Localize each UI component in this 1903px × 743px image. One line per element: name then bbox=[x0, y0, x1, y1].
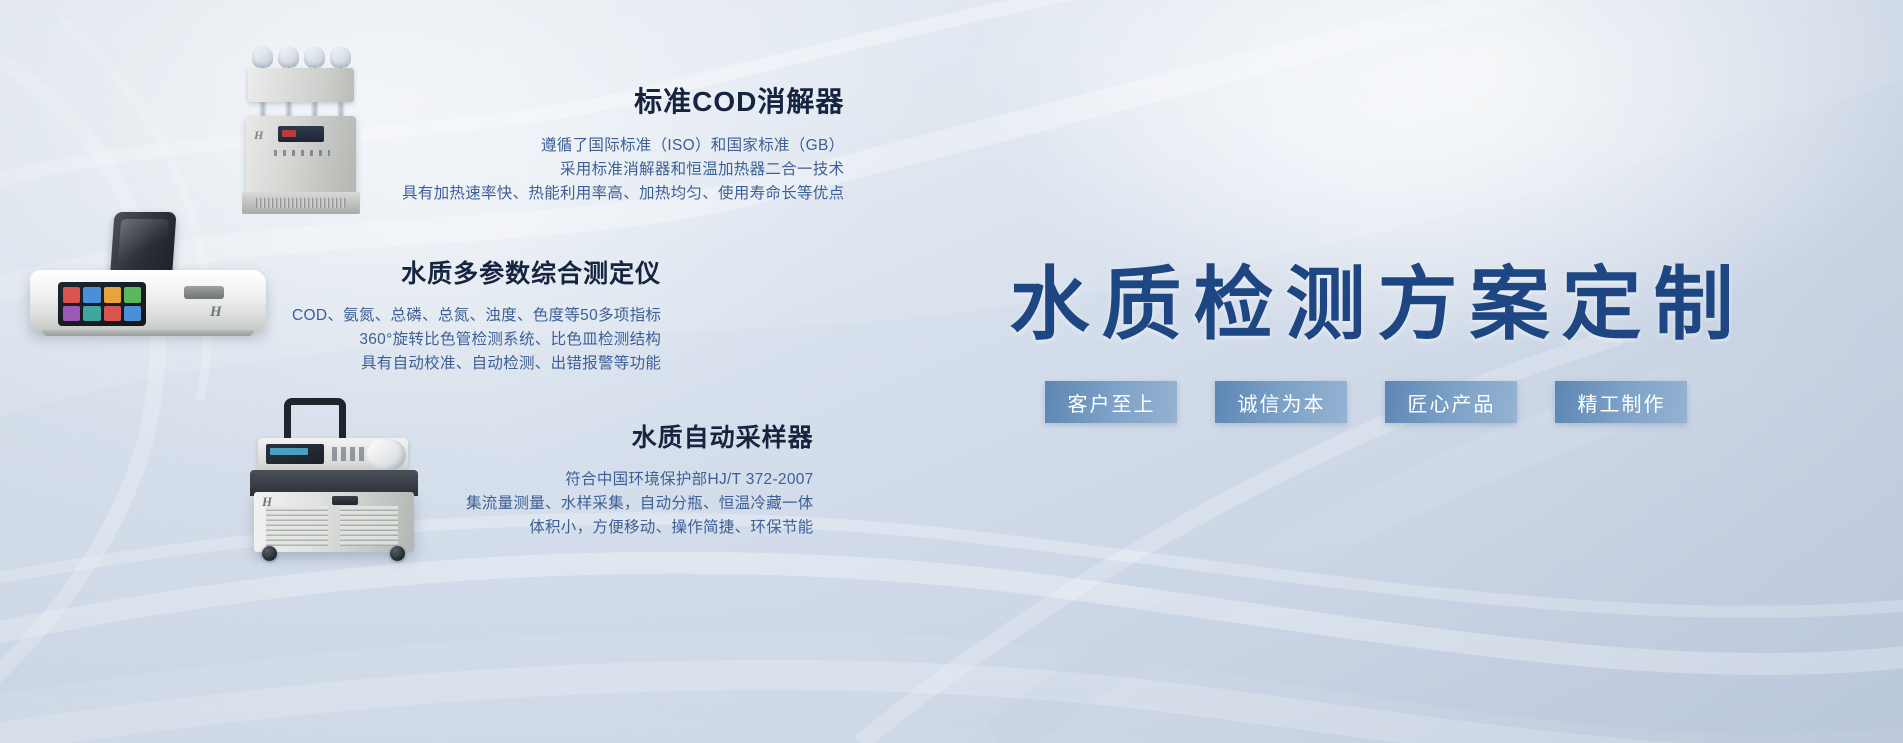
product-description-multiparameter-analyzer: COD、氨氮、总磷、总氮、浊度、色度等50多项指标 360°旋转比色管检测系统、… bbox=[292, 304, 661, 376]
product-image-multiparameter-analyzer: H bbox=[24, 212, 274, 342]
hero-section: 水质检测方案定制 客户至上 诚信为本 匠心产品 精工制作 bbox=[840, 0, 1903, 743]
product-line: 遵循了国际标准（ISO）和国家标准（GB） bbox=[402, 134, 844, 158]
banner-stage: H 标准COD消解器 遵循了国际标准（ISO）和国家标准（GB） 采用标准消解器… bbox=[0, 0, 1903, 743]
product-image-auto-sampler: H bbox=[240, 398, 440, 558]
product-block-cod-digester: H 标准COD消解器 遵循了国际标准（ISO）和国家标准（GB） 采用标准消解器… bbox=[234, 40, 844, 220]
badge-integrity[interactable]: 诚信为本 bbox=[1215, 381, 1347, 423]
hero-title: 水质检测方案定制 bbox=[840, 240, 1903, 356]
product-block-multiparameter-analyzer: H 水质多参数综合测定仪 COD、氨氮、总磷、总氮、浊度、色度等50多项指标 3… bbox=[24, 212, 661, 376]
product-description-auto-sampler: 符合中国环境保护部HJ/T 372-2007 集流量测量、水样采集，自动分瓶、恒… bbox=[466, 468, 814, 540]
product-line: 集流量测量、水样采集，自动分瓶、恒温冷藏一体 bbox=[466, 492, 814, 516]
product-line: 符合中国环境保护部HJ/T 372-2007 bbox=[466, 468, 814, 492]
product-image-cod-digester: H bbox=[234, 40, 374, 220]
badge-customer-first[interactable]: 客户至上 bbox=[1045, 381, 1177, 423]
badge-craftsmanship[interactable]: 匠心产品 bbox=[1385, 381, 1517, 423]
product-line: 具有自动校准、自动检测、出错报警等功能 bbox=[292, 352, 661, 376]
product-title-multiparameter-analyzer: 水质多参数综合测定仪 bbox=[292, 254, 661, 290]
product-line: 采用标准消解器和恒温加热器二合一技术 bbox=[402, 158, 844, 182]
product-line: 体积小，方便移动、操作简捷、环保节能 bbox=[466, 516, 814, 540]
product-description-cod-digester: 遵循了国际标准（ISO）和国家标准（GB） 采用标准消解器和恒温加热器二合一技术… bbox=[402, 134, 844, 206]
product-line: COD、氨氮、总磷、总氮、浊度、色度等50多项指标 bbox=[292, 304, 661, 328]
badge-row: 客户至上 诚信为本 匠心产品 精工制作 bbox=[840, 381, 1903, 423]
product-title-auto-sampler: 水质自动采样器 bbox=[466, 418, 814, 454]
badge-fine-manufacturing[interactable]: 精工制作 bbox=[1555, 381, 1687, 423]
product-line: 360°旋转比色管检测系统、比色皿检测结构 bbox=[292, 328, 661, 352]
product-title-cod-digester: 标准COD消解器 bbox=[402, 80, 844, 120]
product-block-auto-sampler: H 水质自动采样器 符合中国环境保护部HJ/T 372-2007 集流量测量、水… bbox=[240, 398, 814, 558]
product-line: 具有加热速率快、热能利用率高、加热均匀、使用寿命长等优点 bbox=[402, 182, 844, 206]
